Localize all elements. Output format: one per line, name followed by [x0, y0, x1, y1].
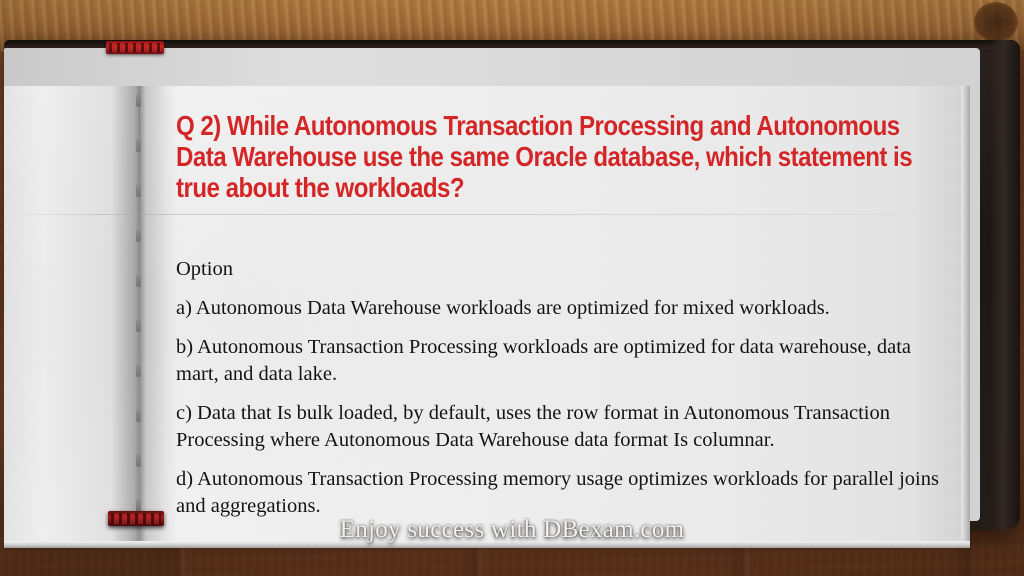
options-heading: Option: [176, 256, 958, 283]
footer-branding: Enjoy success with DBexam.com: [0, 516, 1024, 544]
slide-content: Q 2) While Autonomous Transaction Proces…: [176, 110, 956, 203]
options-block: Option a) Autonomous Data Warehouse work…: [176, 256, 958, 532]
bookmark-ribbon-top: [106, 41, 164, 54]
option-d[interactable]: d) Autonomous Transaction Processing mem…: [176, 466, 958, 520]
page-right-edge: [961, 86, 970, 548]
title-divider: [4, 214, 964, 215]
open-book: Q 2) While Autonomous Transaction Proces…: [4, 40, 1020, 530]
binding-stitches: [136, 86, 141, 548]
question-title: Q 2) While Autonomous Transaction Proces…: [176, 110, 954, 203]
book-cover-right-edge: [990, 40, 1020, 530]
option-c[interactable]: c) Data that Is bulk loaded, by default,…: [176, 400, 958, 454]
option-a[interactable]: a) Autonomous Data Warehouse workloads a…: [176, 295, 958, 322]
slide-stage: Q 2) While Autonomous Transaction Proces…: [0, 0, 1024, 576]
page-spread: Q 2) While Autonomous Transaction Proces…: [4, 86, 970, 548]
option-b[interactable]: b) Autonomous Transaction Processing wor…: [176, 334, 958, 388]
